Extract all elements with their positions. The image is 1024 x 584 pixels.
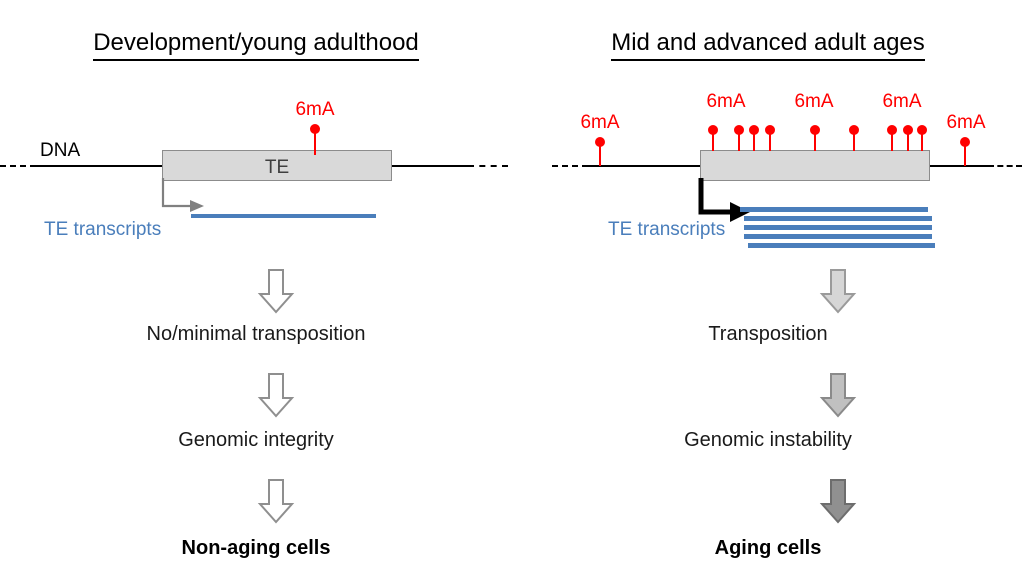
methylation-lollipop-right-1: [599, 146, 601, 166]
flow-label-right-1: Transposition: [512, 324, 1024, 344]
methylation-lollipop-left-1: [314, 133, 316, 155]
dna-solid-right-arm-right-panel: [930, 165, 992, 167]
locus-diagram-left: DNA TE 6mA TE transcripts: [0, 0, 512, 270]
locus-diagram-right: 6mA 6mA 6mA 6mA 6mA TE transcripts: [512, 0, 1024, 270]
methylation-lollipop-right-7: [853, 134, 855, 151]
methylation-label-right-3: 6mA: [782, 92, 846, 111]
transcript-line-right-5: [748, 243, 935, 248]
transcript-line-left-1: [191, 214, 376, 218]
dna-solid-right-arm: [390, 165, 470, 167]
dna-label: DNA: [40, 140, 80, 162]
panel-mid-advanced-adult-ages: Mid and advanced adult ages 6mA 6mA 6mA …: [512, 0, 1024, 584]
transcripts-label-left: TE transcripts: [44, 219, 161, 241]
flow-arrow-right-2: [818, 372, 858, 418]
flow-arrow-left-2: [256, 372, 296, 418]
dna-dashed-right-end-right-panel: [988, 165, 1022, 167]
methylation-label-left-1: 6mA: [283, 100, 347, 119]
transcript-line-right-2: [744, 216, 932, 221]
flow-arrow-left-1: [256, 268, 296, 314]
dna-dashed-right-end: [468, 165, 508, 167]
methylation-lollipop-right-4: [753, 134, 755, 151]
flow-arrow-right-3: [818, 478, 858, 524]
methylation-label-right-2: 6mA: [694, 92, 758, 111]
dna-solid-left-arm-right-panel: [586, 165, 702, 167]
transcripts-label-right: TE transcripts: [608, 219, 725, 241]
flow-label-left-2: Genomic integrity: [0, 430, 512, 450]
dna-dashed-left-end: [0, 165, 36, 167]
methylation-lollipop-right-9: [907, 134, 909, 151]
dna-dashed-left-end-right-panel: [552, 165, 588, 167]
methylation-lollipop-right-6: [814, 134, 816, 151]
methylation-lollipop-right-10: [921, 134, 923, 151]
te-element-label: TE: [163, 158, 391, 177]
flow-arrow-right-1: [818, 268, 858, 314]
flow-arrow-left-3: [256, 478, 296, 524]
methylation-lollipop-right-3: [738, 134, 740, 151]
methylation-lollipop-right-2: [712, 134, 714, 151]
transcript-line-right-3: [744, 225, 932, 230]
dna-solid-left-arm: [34, 165, 164, 167]
methylation-label-right-5: 6mA: [934, 113, 998, 132]
methylation-label-right-1: 6mA: [568, 113, 632, 132]
flow-label-left-3: Non-aging cells: [0, 538, 512, 558]
flow-label-right-2: Genomic instability: [512, 430, 1024, 450]
panel-development-young-adulthood: Development/young adulthood DNA TE 6mA T…: [0, 0, 512, 584]
methylation-lollipop-right-5: [769, 134, 771, 151]
methylation-lollipop-right-8: [891, 134, 893, 151]
methylation-lollipop-right-11: [964, 146, 966, 166]
transcript-line-right-1: [740, 207, 928, 212]
methylation-label-right-4: 6mA: [870, 92, 934, 111]
transcript-line-right-4: [744, 234, 932, 239]
flow-label-right-3: Aging cells: [512, 538, 1024, 558]
flow-label-left-1: No/minimal transposition: [0, 324, 512, 344]
